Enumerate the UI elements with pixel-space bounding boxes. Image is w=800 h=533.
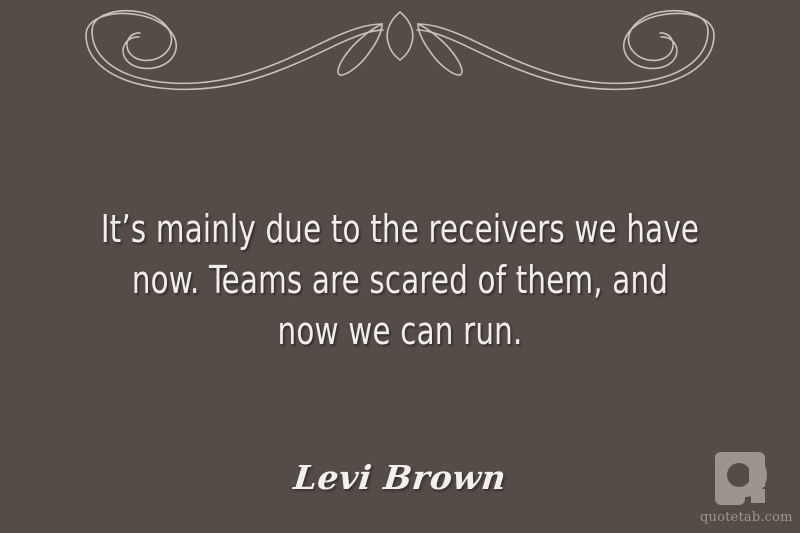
quote-card: It’s mainly due to the receivers we have… xyxy=(0,0,800,533)
author-container: Levi Brown xyxy=(0,458,800,497)
quote-text: It’s mainly due to the receivers we have… xyxy=(99,204,701,357)
brand-name: quotetab.com xyxy=(700,510,786,525)
decorative-flourish-divider xyxy=(0,2,800,94)
quotetab-q-logo-icon xyxy=(715,449,771,507)
author-name[interactable]: Levi Brown xyxy=(292,458,508,497)
flourish-icon xyxy=(0,2,800,94)
quote-text-container: It’s mainly due to the receivers we have… xyxy=(50,204,750,357)
watermark[interactable]: quotetab.com xyxy=(700,449,786,525)
